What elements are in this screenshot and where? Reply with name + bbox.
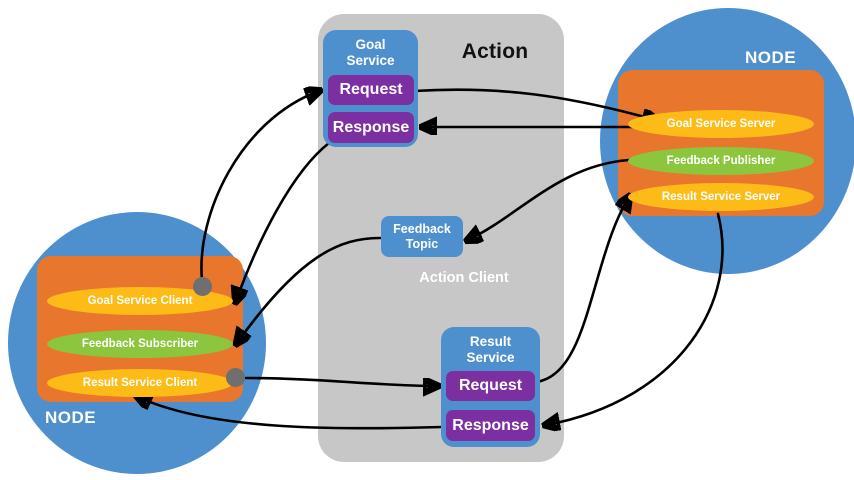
result-service-request-box[interactable]: Request bbox=[446, 371, 535, 401]
goal-service-request-box[interactable]: Request bbox=[328, 75, 414, 105]
pill-result-service-client[interactable]: Result Service Client bbox=[47, 369, 233, 397]
server-node-label: NODE bbox=[745, 47, 825, 69]
feedback-topic-line1: Feedback bbox=[393, 222, 451, 236]
result-service-title-line1: Result bbox=[470, 334, 511, 349]
goal-client-connector-dot bbox=[193, 277, 212, 296]
pill-goal-service-server[interactable]: Goal Service Server bbox=[628, 110, 814, 138]
client-node-label: NODE bbox=[45, 407, 125, 429]
pill-feedback-publisher[interactable]: Feedback Publisher bbox=[628, 147, 814, 175]
action-server-title: Action Sever bbox=[618, 79, 854, 105]
goal-service-title: Goal Service bbox=[323, 33, 418, 73]
feedback-topic-box[interactable]: Feedback Topic bbox=[381, 216, 463, 257]
goal-service-title-line2: Service bbox=[346, 53, 394, 68]
result-client-connector-dot bbox=[226, 368, 245, 387]
feedback-topic-line2: Topic bbox=[406, 237, 438, 251]
result-service-title-line2: Service bbox=[466, 350, 514, 365]
goal-service-response-box[interactable]: Response bbox=[328, 112, 414, 143]
action-group-title: Action bbox=[440, 36, 550, 68]
pill-result-service-server[interactable]: Result Service Server bbox=[628, 183, 814, 211]
result-service-response-box[interactable]: Response bbox=[446, 410, 535, 441]
goal-service-title-line1: Goal bbox=[355, 37, 385, 52]
diagram-canvas: Action Sever Action Client Goal Service … bbox=[0, 0, 854, 480]
result-service-title: Result Service bbox=[441, 330, 540, 370]
pill-feedback-subscriber[interactable]: Feedback Subscriber bbox=[47, 330, 233, 358]
